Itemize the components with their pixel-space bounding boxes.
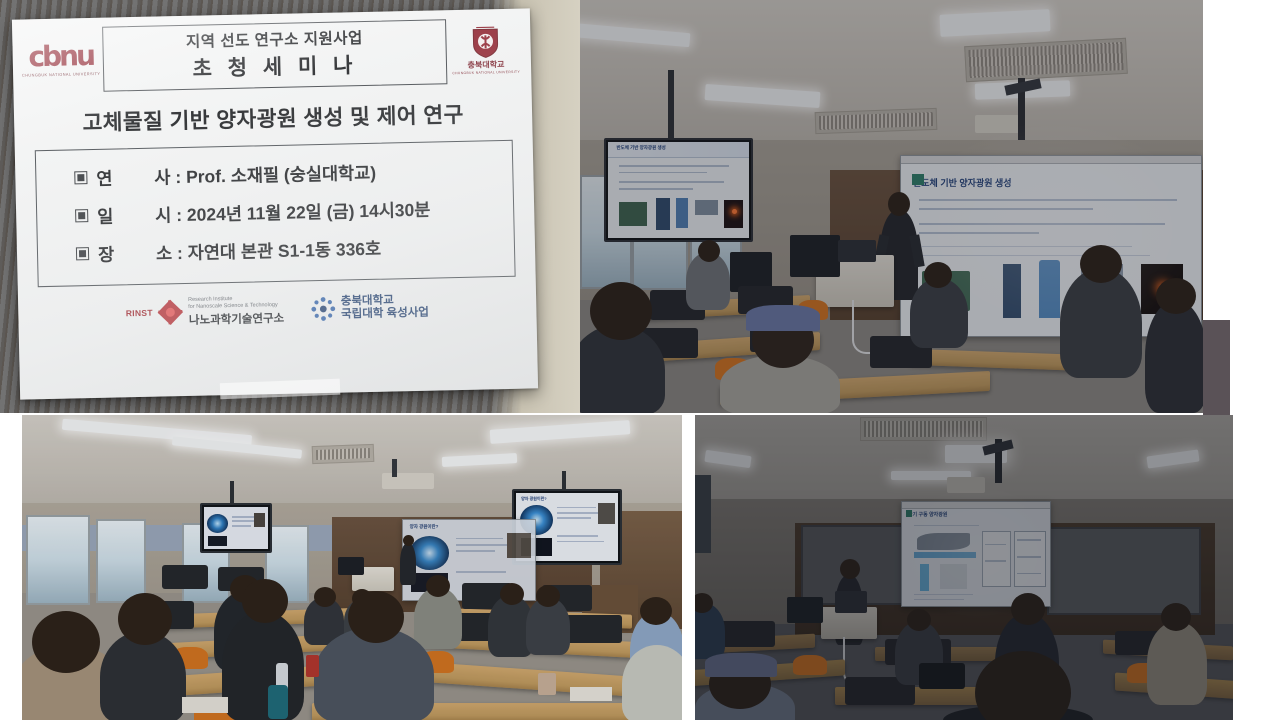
seated-person [1147, 621, 1207, 705]
window [96, 519, 146, 603]
person-head [242, 579, 288, 623]
detail-value: 사 : Prof. 소재필 (숭실대학교) [154, 160, 376, 190]
person-head [118, 593, 172, 645]
detail-label: 장 [98, 241, 157, 267]
classroom-chair [566, 615, 622, 643]
rinst-ko: 나노과학기술연구소 [189, 309, 285, 327]
person-head [698, 240, 720, 262]
photo-edge-overlap [1203, 320, 1230, 415]
bag [919, 663, 965, 689]
poster-details-box: 연 사 : Prof. 소재필 (숭실대학교) 일 시 : 2024년 11월 … [35, 140, 516, 287]
cbnu-mark-subtitle: CHUNGBUK NATIONAL UNIVERSITY [21, 71, 101, 77]
cap-icon [746, 305, 820, 331]
poster-detail-row: 연 사 : Prof. 소재필 (숭실대학교) [36, 157, 512, 192]
side-monitor [695, 475, 711, 553]
notebook [570, 687, 612, 701]
person-head [640, 597, 672, 625]
photo-seminar-poster: cbnu CHUNGBUK NATIONAL UNIVERSITY 지역 선도 … [0, 0, 580, 413]
person-head [314, 587, 336, 607]
nanoscale-diamond-icon [158, 299, 185, 326]
person-head [590, 282, 652, 340]
projected-slide-title: 양자 광원이란? [410, 524, 439, 530]
square-bullet-icon [74, 171, 87, 184]
person-head [907, 609, 931, 631]
person-head [536, 585, 560, 607]
thermos [268, 685, 288, 719]
poster-footer-logos: RINST Research Institute for Nanoscale S… [32, 290, 523, 331]
photo-lecture-room-dark: 단기 구동 양자광원 [695, 415, 1233, 720]
shield-name-en: CHUNGBUK NATIONAL UNIVERSITY [449, 69, 523, 75]
people-burst-icon [310, 296, 337, 323]
classroom-chair-orange [793, 655, 827, 675]
cbnu-shield-logo: 충북대학교 CHUNGBUK NATIONAL UNIVERSITY [454, 26, 517, 75]
speaker-person [400, 543, 416, 585]
person-head [32, 611, 100, 673]
person-head [426, 575, 450, 597]
cbnu-mark: cbnu [26, 42, 95, 71]
rinst-logo: RINST Research Institute for Nanoscale S… [125, 295, 284, 329]
lectern-computer [338, 557, 364, 575]
seated-person-foreground [222, 611, 304, 720]
person-head [1011, 593, 1045, 625]
square-bullet-icon [75, 209, 88, 222]
person-head [500, 583, 524, 605]
square-bullet-icon [76, 247, 89, 260]
ceiling-projector [382, 473, 434, 489]
whiteboard [1047, 527, 1201, 615]
poster-event-type: 초 청 세 미 나 [110, 47, 441, 84]
wall-monitor: 반도체 기반 양자광원 생성 [604, 138, 753, 242]
poster-header-row: cbnu CHUNGBUK NATIONAL UNIVERSITY 지역 선도 … [26, 19, 517, 92]
photo-lecture-room-wide: 반도체 기반 양자광원 생성 반도체 기반 양자광원 생성 [580, 0, 1203, 413]
detail-value: 시 : 2024년 11월 22일 (금) 14시30분 [155, 197, 431, 228]
speaker-head [888, 192, 910, 216]
poster-header-box: 지역 선도 연구소 지원사업 초 청 세 미 나 [102, 19, 447, 91]
coffee-cup [538, 673, 556, 695]
seated-person-foreground [622, 645, 682, 720]
detail-label: 일 [97, 203, 156, 229]
nuri-project-logo: 충북대학교 국립대학 육성사업 [310, 294, 429, 323]
lectern-laptop [835, 591, 867, 613]
poster-sheet: cbnu CHUNGBUK NATIONAL UNIVERSITY 지역 선도 … [12, 8, 538, 399]
monitor-ceiling-pole [668, 70, 674, 140]
person-head [1156, 278, 1196, 314]
classroom-chair [162, 565, 208, 589]
ceiling-vent [312, 444, 375, 464]
poster-detail-row: 일 시 : 2024년 11월 22일 (금) 14시30분 [37, 195, 513, 230]
photo-audience-view: 양자 광원이란? 양자 광원이란? [22, 415, 682, 720]
person-head [924, 262, 952, 288]
detail-value: 소 : 자연대 본관 S1-1동 336호 [156, 236, 382, 266]
person-head [1080, 245, 1122, 283]
seated-person [910, 278, 968, 348]
ceiling-vent [860, 417, 987, 441]
monitor-slide-title: 반도체 기반 양자광원 생성 [616, 145, 665, 151]
person-head [348, 591, 404, 643]
photo-collage: cbnu CHUNGBUK NATIONAL UNIVERSITY 지역 선도 … [0, 0, 1280, 720]
detail-label: 연 [96, 165, 155, 191]
poster-detail-row: 장 소 : 자연대 본관 S1-1동 336호 [38, 233, 514, 268]
wall-monitor [200, 503, 272, 553]
monitor-slide-title: 양자 광원이란? [521, 496, 547, 502]
person-head [1161, 603, 1191, 631]
window [26, 515, 90, 605]
cbnu-wordmark-logo: cbnu CHUNGBUK NATIONAL UNIVERSITY [26, 42, 95, 77]
seated-person [1145, 300, 1203, 413]
lectern-computer [787, 597, 823, 623]
projector-mount-arm [392, 459, 397, 477]
rinst-tag: RINST [126, 308, 153, 319]
poster-title: 고체물질 기반 양자광원 생성 및 제어 연구 [28, 97, 519, 139]
lectern-laptop [838, 240, 876, 262]
lectern-computer [790, 235, 840, 277]
shield-icon [470, 26, 501, 59]
monitor-ceiling-pole [562, 471, 566, 491]
nuri-line2: 국립대학 육성사업 [341, 307, 429, 322]
drink-cup [306, 655, 319, 677]
seated-person [1060, 268, 1142, 378]
speaker-head [840, 559, 860, 579]
monitor-ceiling-pole [230, 481, 234, 505]
speaker-head [403, 535, 414, 546]
notebook [182, 697, 228, 713]
cap-icon [705, 653, 777, 677]
